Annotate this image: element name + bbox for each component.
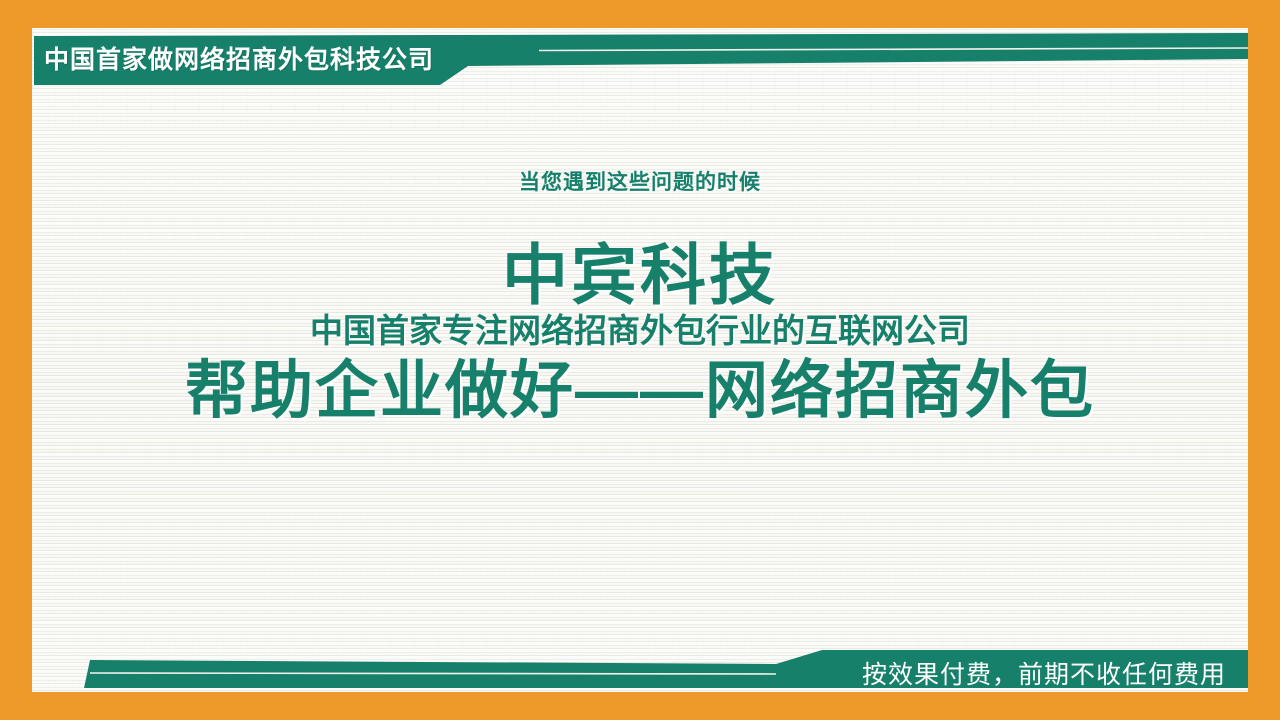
footer-band: 按效果付费，前期不收任何费用 [32, 648, 1248, 692]
header-title: 中国首家做网络招商外包科技公司 [44, 36, 434, 80]
header-band: 中国首家做网络招商外包科技公司 [34, 33, 1248, 85]
content-eyebrow: 当您遇到这些问题的时候 [32, 120, 1248, 196]
content-brand-name: 中宾科技 [32, 196, 1248, 311]
footer-tagline: 按效果付费，前期不收任何费用 [862, 654, 1226, 692]
footer-hairline [90, 673, 776, 674]
content-brand-subtitle: 中国首家专注网络招商外包行业的互联网公司 [32, 311, 1248, 349]
presentation-slide: 中国首家做网络招商外包科技公司 当您遇到这些问题的时候 中宾科技 中国首家专注网… [0, 0, 1280, 720]
content-headline: 帮助企业做好——网络招商外包 [32, 350, 1248, 427]
slide-content: 当您遇到这些问题的时候 中宾科技 中国首家专注网络招商外包行业的互联网公司 帮助… [32, 120, 1248, 426]
